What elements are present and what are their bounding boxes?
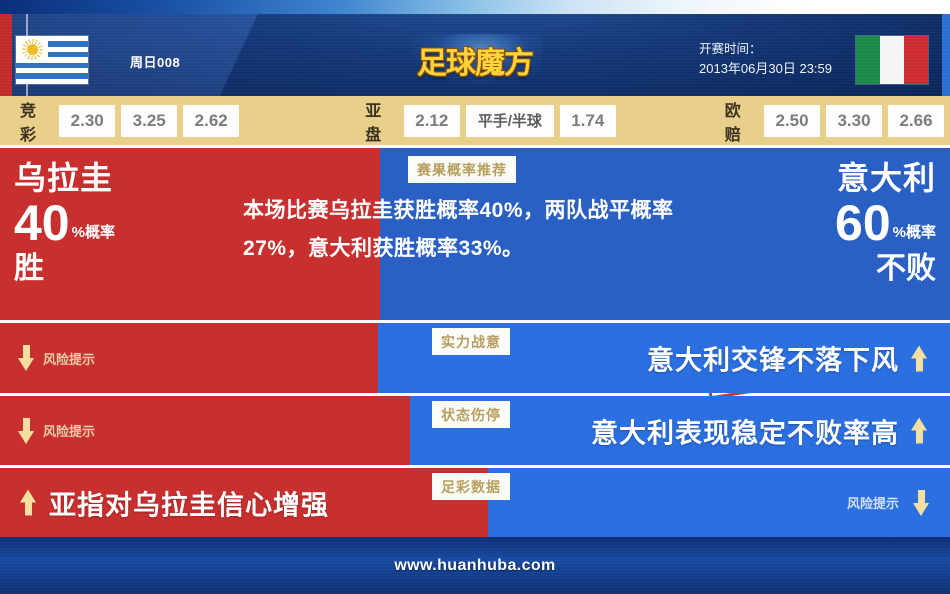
uruguay-flag-icon bbox=[16, 36, 88, 84]
odds-group-yapan: 亚盘 2.12 平手/半球 1.74 bbox=[355, 97, 622, 145]
comparison-right-text: 意大利表现稳定不败率高 bbox=[591, 411, 899, 450]
comparison-right-text: 风险提示 bbox=[847, 493, 899, 512]
odds-group-oupei: 欧赔 2.50 3.30 2.66 bbox=[715, 97, 950, 145]
header-right-accent-bar bbox=[942, 14, 950, 96]
odds-cell[interactable]: 3.25 bbox=[121, 105, 177, 137]
tab-betting-data[interactable]: 足彩数据 bbox=[432, 473, 510, 500]
arrow-up-icon bbox=[911, 418, 928, 444]
comparison-right-message: 意大利交锋不落下风 bbox=[647, 339, 928, 378]
comparison-left-message: 亚指对乌拉圭信心增强 bbox=[20, 483, 329, 522]
comparison-left-text: 风险提示 bbox=[43, 421, 95, 440]
kickoff-time: 开赛时间： 2013年06月30日 23:59 bbox=[699, 40, 832, 78]
match-header: 周日008 足球魔方 开赛时间： 2013年06月30日 23:59 bbox=[0, 14, 950, 96]
italy-flag-icon bbox=[856, 36, 928, 84]
odds-cell-handicap[interactable]: 平手/半球 bbox=[466, 105, 554, 137]
arrow-down-icon bbox=[18, 345, 35, 371]
arrow-up-icon bbox=[20, 490, 37, 516]
footer-website[interactable]: www.huanhuba.com bbox=[394, 557, 555, 575]
tab-strength-motivation[interactable]: 实力战意 bbox=[432, 328, 510, 355]
header-left-accent-bar bbox=[0, 14, 12, 96]
infographic-page: 周日008 足球魔方 开赛时间： 2013年06月30日 23:59 竞彩 2.… bbox=[0, 0, 950, 594]
tab-probability-recommend[interactable]: 赛果概率推荐 bbox=[408, 156, 516, 183]
footer-bar: www.huanhuba.com bbox=[0, 537, 950, 594]
home-team-percent-unit: %概率 bbox=[72, 225, 115, 240]
kickoff-value: 2013年06月30日 23:59 bbox=[699, 59, 832, 78]
comparison-right-note: 风险提示 bbox=[847, 490, 930, 516]
comparison-left-note: 风险提示 bbox=[18, 418, 95, 444]
odds-group-label: 欧赔 bbox=[715, 97, 764, 145]
odds-cell[interactable]: 3.30 bbox=[826, 105, 882, 137]
kickoff-label: 开赛时间： bbox=[699, 40, 832, 59]
odds-group-label: 亚盘 bbox=[355, 97, 404, 145]
probability-description: 本场比赛乌拉圭获胜概率40%，两队战平概率27%，意大利获胜概率33%。 bbox=[243, 192, 675, 268]
comparison-left-text: 风险提示 bbox=[43, 349, 95, 368]
comparison-right-text: 意大利交锋不落下风 bbox=[647, 339, 899, 378]
odds-group-jingcai: 竞彩 2.30 3.25 2.62 bbox=[10, 97, 245, 145]
site-logo[interactable]: 足球魔方 bbox=[408, 34, 542, 86]
odds-cell[interactable]: 1.74 bbox=[560, 105, 616, 137]
comparison-right-message: 意大利表现稳定不败率高 bbox=[591, 411, 928, 450]
odds-group-label: 竞彩 bbox=[10, 97, 59, 145]
top-gradient-strip bbox=[0, 0, 950, 14]
home-team-result: 胜 bbox=[14, 254, 115, 284]
odds-cell[interactable]: 2.50 bbox=[764, 105, 820, 137]
odds-bar: 竞彩 2.30 3.25 2.62 亚盘 2.12 平手/半球 1.74 欧赔 … bbox=[0, 96, 950, 145]
away-team-percent-unit: %概率 bbox=[893, 225, 936, 240]
odds-cell[interactable]: 2.66 bbox=[888, 105, 944, 137]
match-number: 周日008 bbox=[130, 52, 180, 71]
away-team-block: 意大利 60 %概率 不败 bbox=[835, 162, 936, 284]
comparison-left-note: 风险提示 bbox=[18, 345, 95, 371]
tab-form-injury[interactable]: 状态伤停 bbox=[432, 401, 510, 428]
odds-cell[interactable]: 2.62 bbox=[183, 105, 239, 137]
home-team-percent: 40 bbox=[14, 200, 70, 246]
away-team-name: 意大利 bbox=[835, 162, 936, 194]
home-team-name: 乌拉圭 bbox=[14, 162, 115, 194]
away-team-result: 不败 bbox=[835, 254, 936, 284]
arrow-up-icon bbox=[911, 345, 928, 371]
arrow-down-icon bbox=[18, 418, 35, 444]
away-team-percent: 60 bbox=[835, 200, 891, 246]
odds-cell[interactable]: 2.12 bbox=[404, 105, 460, 137]
home-team-block: 乌拉圭 40 %概率 胜 bbox=[14, 162, 115, 284]
comparison-left-text: 亚指对乌拉圭信心增强 bbox=[49, 483, 329, 522]
odds-cell[interactable]: 2.30 bbox=[59, 105, 115, 137]
site-logo-text: 足球魔方 bbox=[417, 38, 533, 82]
arrow-down-icon bbox=[913, 490, 930, 516]
